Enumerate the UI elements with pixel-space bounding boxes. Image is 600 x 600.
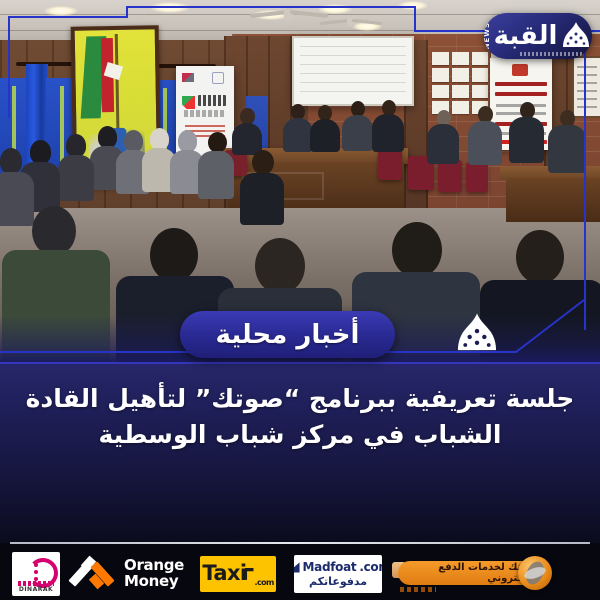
decor-line-right-top xyxy=(414,6,416,32)
sponsor-orange-line2: Money xyxy=(124,574,184,590)
sponsor-bar: DINARAK Orange Money Taxi.com Madfoat .c… xyxy=(0,548,600,600)
sawtak-logo-icon xyxy=(182,96,195,109)
news-card: NEWS القبة أخبار محلية xyxy=(0,0,600,600)
logo-tagline xyxy=(520,52,582,56)
rahatak-squiggle xyxy=(400,587,436,592)
rahatak-orb-icon xyxy=(518,556,552,590)
decor-line-top-horizontal xyxy=(8,16,128,18)
category-badge[interactable]: أخبار محلية xyxy=(180,311,395,358)
badge-dome-icon xyxy=(455,312,499,360)
person-head xyxy=(255,238,305,294)
sponsor-madfoat[interactable]: Madfoat .com مدفوعاتكم xyxy=(294,555,382,593)
chair xyxy=(438,160,462,192)
person-head xyxy=(32,206,76,256)
ceiling-fan-icon xyxy=(320,16,382,29)
headline-text: جلسة تعريفية ببرنامج “صوتك” لتأهيل القاد… xyxy=(14,381,586,452)
brand-logo[interactable]: NEWS القبة xyxy=(484,13,592,59)
person-head xyxy=(0,148,22,174)
person-head xyxy=(392,222,442,278)
category-badge-label: أخبار محلية xyxy=(216,320,360,350)
person-body xyxy=(548,125,586,173)
sponsor-dinarak-name: DINARAK xyxy=(16,586,56,593)
person-body xyxy=(283,118,313,152)
sponsor-orange-money[interactable]: Orange Money xyxy=(74,557,184,591)
decor-line-top-upper xyxy=(126,6,416,8)
person-body xyxy=(427,124,459,164)
logo-news-label: NEWS xyxy=(484,22,491,49)
sponsor-rahatak-label: راحتك لخدمات الدفع الإلكتروني xyxy=(398,562,538,584)
person-body xyxy=(310,119,340,152)
dome-icon xyxy=(561,21,591,51)
decor-line-left-vertical xyxy=(8,16,10,118)
sponsor-dinarak[interactable]: DINARAK xyxy=(12,552,60,596)
person-head xyxy=(30,140,51,164)
ceiling-fan-icon xyxy=(250,6,328,22)
person-body xyxy=(58,155,94,201)
sponsor-madfoat-arabic: مدفوعاتكم xyxy=(309,575,367,588)
person-head xyxy=(98,126,117,148)
person-head xyxy=(150,128,169,150)
orange-money-icon xyxy=(74,557,118,591)
person-body xyxy=(509,117,544,163)
sponsor-madfoat-name: Madfoat xyxy=(303,560,357,574)
logo-arabic-name: القبة xyxy=(494,23,558,49)
sponsor-divider xyxy=(10,542,590,544)
sponsor-taxi[interactable]: Taxi.com xyxy=(200,556,276,592)
taxi-flag-icon xyxy=(245,568,254,580)
person-head xyxy=(208,132,227,153)
person-body xyxy=(0,172,34,226)
ceiling-light xyxy=(44,6,78,16)
chair xyxy=(378,150,402,180)
person-head xyxy=(124,130,143,152)
person-body xyxy=(468,121,502,165)
chair xyxy=(466,162,488,192)
person-body xyxy=(372,114,404,152)
person-body xyxy=(198,151,234,199)
person-body xyxy=(342,115,373,151)
person-head xyxy=(66,134,86,157)
sponsor-madfoat-suffix: .com xyxy=(359,560,382,574)
sponsor-rahatak[interactable]: راحتك لخدمات الدفع الإلكتروني xyxy=(392,556,560,592)
projector-screen xyxy=(292,36,414,106)
person-body xyxy=(240,173,284,225)
person-head xyxy=(516,230,564,284)
madfoat-chevron-icon xyxy=(294,562,299,573)
band-accent-line xyxy=(0,362,600,364)
sponsor-taxi-name: Taxi xyxy=(202,561,246,585)
person-head xyxy=(252,150,274,175)
decor-line-right-vertical xyxy=(584,30,586,330)
sponsor-taxi-suffix: .com xyxy=(255,578,274,587)
person-head xyxy=(178,130,197,152)
person-head xyxy=(150,228,198,282)
framed-notice xyxy=(572,56,600,118)
